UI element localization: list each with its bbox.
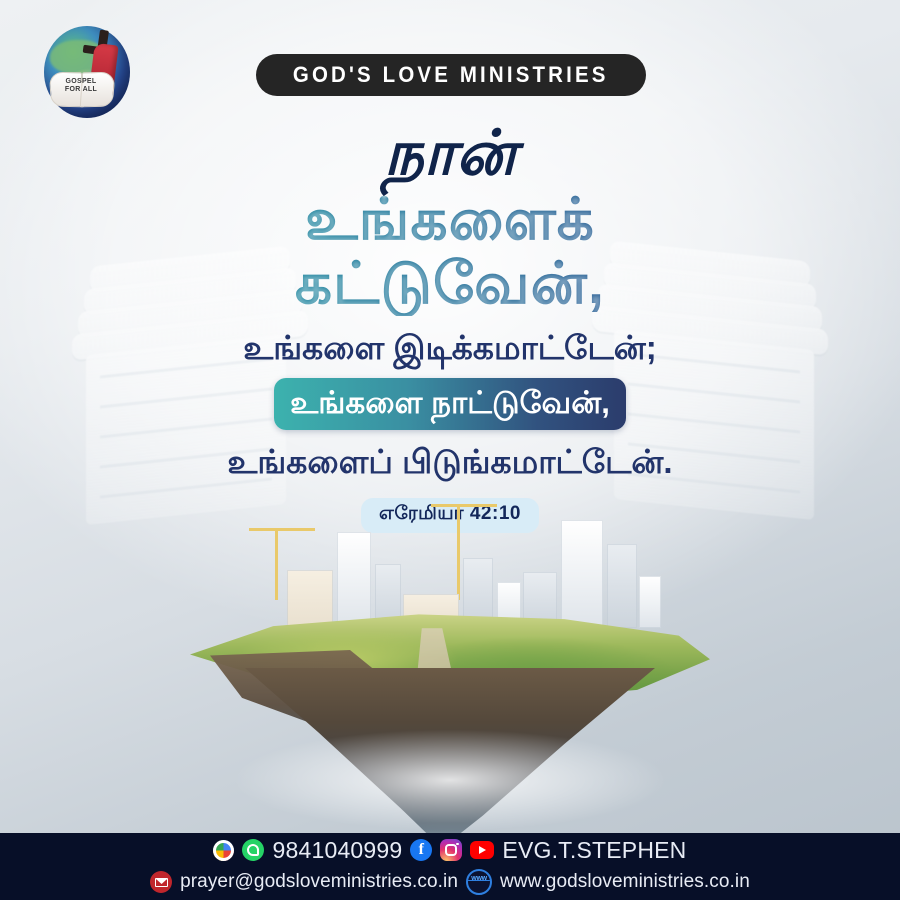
phone-number[interactable]: 9841040999 [272, 837, 402, 864]
ministry-logo: GOSPEL FOR ALL [36, 20, 136, 120]
gpay-icon[interactable] [213, 840, 234, 861]
ministry-name-badge: GOD'S LOVE MINISTRIES [256, 54, 646, 96]
building [287, 570, 333, 628]
youtube-icon[interactable] [470, 841, 494, 859]
footer-row-contact: prayer@godsloveministries.co.in www www.… [0, 867, 900, 897]
poster-canvas: GOSPEL FOR ALL GOD'S LOVE MINISTRIES நான… [0, 0, 900, 900]
city-skyline [245, 500, 665, 628]
verse-line-4: உங்களை இடிக்கமாட்டேன்; [0, 326, 900, 370]
floating-island-illustration [150, 500, 750, 850]
verse-line-3: கட்டுவேன், [0, 252, 900, 316]
email-icon[interactable] [150, 871, 172, 893]
crane-icon-left [275, 528, 278, 600]
building [337, 532, 371, 628]
website-globe-icon[interactable]: www [466, 869, 492, 895]
website-url[interactable]: www.godsloveministries.co.in [500, 871, 750, 893]
whatsapp-icon[interactable] [242, 839, 264, 861]
verse-line-2: உங்களைக் [0, 188, 900, 252]
verse-block: நான் உங்களைக் கட்டுவேன், உங்களை இடிக்கமா… [0, 118, 900, 533]
verse-highlight-row: உங்களை நாட்டுவேன், [0, 378, 900, 430]
email-address[interactable]: prayer@godsloveministries.co.in [180, 871, 458, 893]
bible-text-line1: GOSPEL [50, 78, 112, 86]
facebook-icon[interactable]: f [410, 839, 432, 861]
verse-line-1: நான் [0, 118, 900, 188]
building [607, 544, 637, 628]
island-mist [150, 710, 750, 850]
social-handle: EVG.T.STEPHEN [502, 837, 686, 864]
open-bible-icon: GOSPEL FOR ALL [50, 72, 112, 106]
verse-line-6: உங்களைப் பிடுங்கமாட்டேன். [0, 440, 900, 484]
instagram-icon[interactable] [440, 839, 462, 861]
ministry-name-label: GOD'S LOVE MINISTRIES [293, 62, 609, 88]
building [639, 576, 661, 628]
footer-row-phone: 9841040999 f EVG.T.STEPHEN [0, 833, 900, 867]
contact-footer: 9841040999 f EVG.T.STEPHEN prayer@godslo… [0, 833, 900, 900]
bible-text-line2: FOR ALL [50, 86, 112, 94]
building [561, 520, 603, 628]
crane-icon-mid [457, 504, 460, 600]
verse-line-5-highlight: உங்களை நாட்டுவேன், [274, 378, 626, 430]
